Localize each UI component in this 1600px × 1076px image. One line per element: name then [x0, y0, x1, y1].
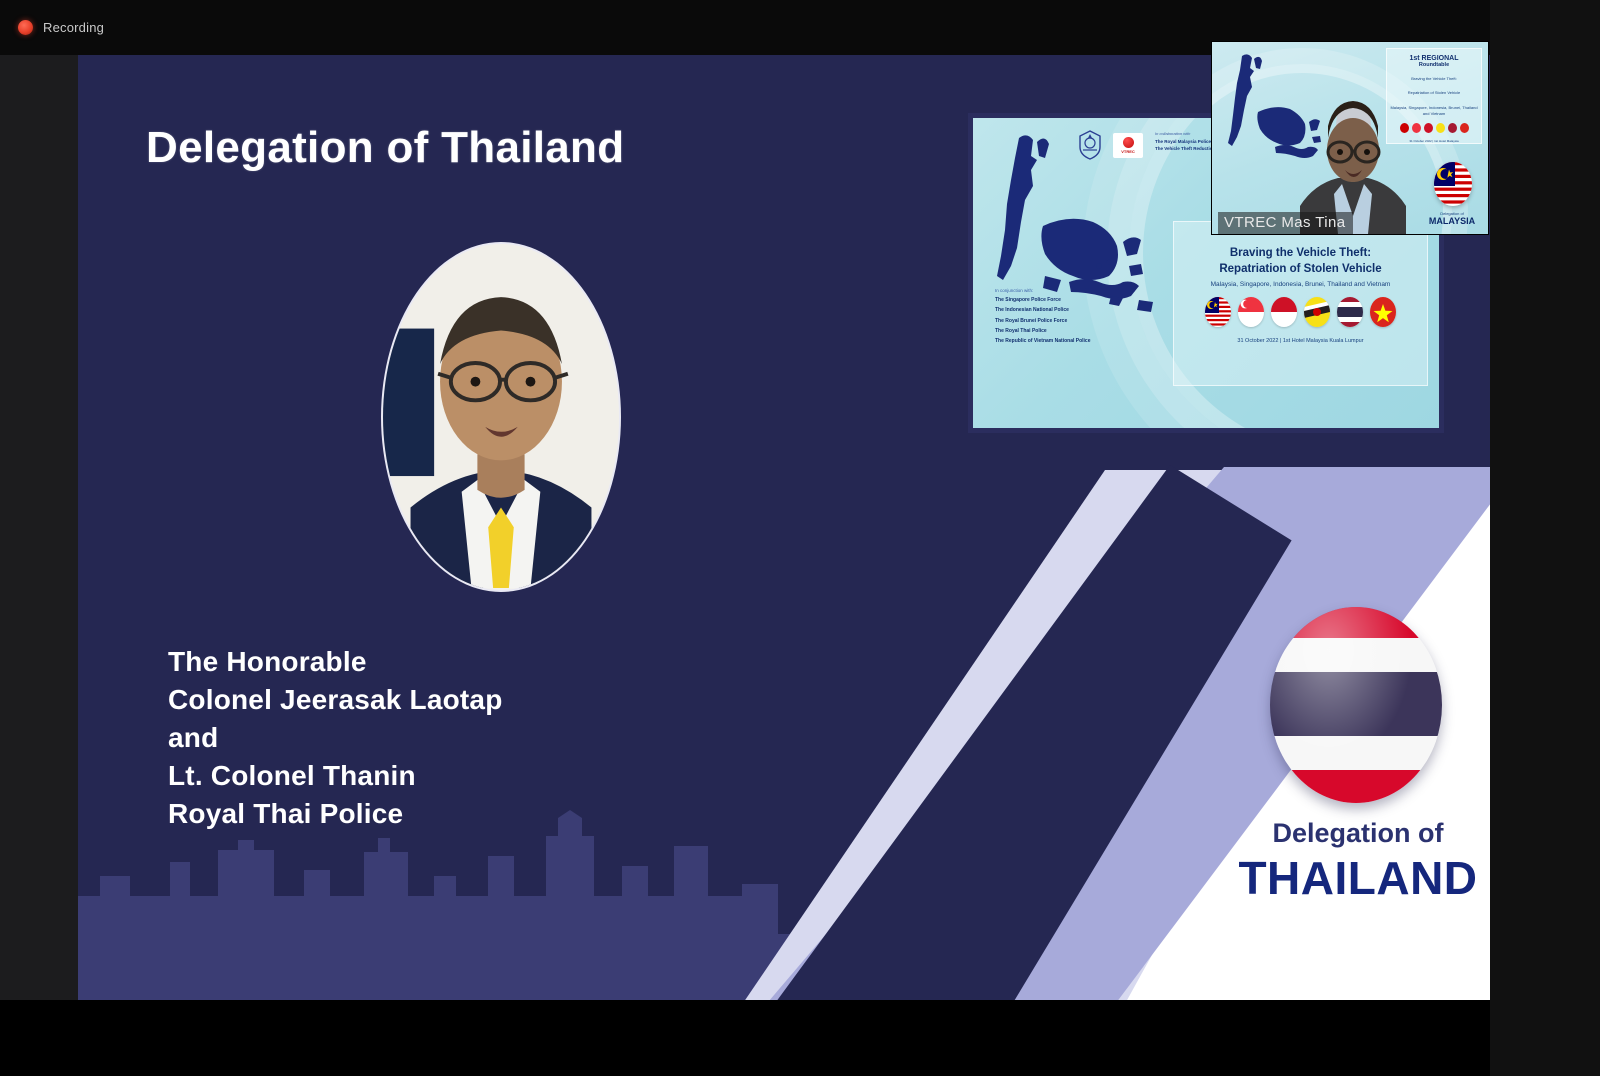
- partner-4: The Royal Thai Police: [995, 326, 1090, 336]
- country-flags-row: [1174, 297, 1427, 327]
- pip-indonesia-flag-icon: [1424, 123, 1433, 133]
- slide-title: Delegation of Thailand: [146, 123, 624, 173]
- participant-video-tile[interactable]: 1st REGIONAL Roundtable Braving the Vehi…: [1212, 42, 1488, 234]
- speaker-line-5: Royal Thai Police: [168, 795, 503, 833]
- malaysia-badge-caption: Delegation of MALAYSIA: [1424, 211, 1480, 226]
- pip-singapore-flag-icon: [1412, 123, 1421, 133]
- thailand-flag-badge: [1270, 607, 1442, 803]
- pip-vietnam-flag-icon: [1460, 123, 1469, 133]
- speaker-line-4: Lt. Colonel Thanin: [168, 757, 503, 795]
- pip-banner-1st: 1st REGIONAL: [1387, 55, 1481, 62]
- record-dot-icon: [18, 20, 33, 35]
- bottom-letterbox: [0, 1000, 1600, 1076]
- police-crest-icon: [1077, 130, 1103, 160]
- partner-3: The Royal Brunei Police Force: [995, 316, 1090, 326]
- partners-block: In conjunction with: The Singapore Polic…: [995, 286, 1090, 346]
- meeting-screen: Recording Delegation of Thailand: [0, 0, 1600, 1076]
- partner-1: The Singapore Police Force: [995, 295, 1090, 305]
- pip-thailand-flag-icon: [1448, 123, 1457, 133]
- vtrec-logo-text: VTREC: [1121, 149, 1135, 154]
- event-subtitle: Malaysia, Singapore, Indonesia, Brunei, …: [1174, 281, 1427, 288]
- speaker-names: The Honorable Colonel Jeerasak Laotap an…: [168, 643, 503, 833]
- speaker-portrait: [381, 242, 621, 592]
- partner-2: The Indonesian National Police: [995, 305, 1090, 315]
- participant-name-label: VTREC Mas Tina: [1218, 212, 1353, 234]
- recording-label: Recording: [43, 20, 104, 35]
- indonesia-flag-icon: [1271, 297, 1297, 327]
- badge-caption-bottom: THAILAND: [1218, 851, 1490, 905]
- vtrec-logo: VTREC: [1113, 133, 1143, 158]
- vietnam-flag-icon: [1370, 297, 1396, 327]
- event-detail-card: Braving the Vehicle Theft: Repatriation …: [1173, 221, 1428, 386]
- brunei-flag-icon: [1304, 297, 1330, 327]
- partner-5: The Republic of Vietnam National Police: [995, 336, 1090, 346]
- vtrec-dot-icon: [1123, 137, 1134, 148]
- malaysia-flag-badge: [1434, 162, 1472, 206]
- speaker-photo: [383, 244, 619, 588]
- partners-header: In conjunction with:: [995, 286, 1090, 295]
- badge-caption-top: Delegation of: [1268, 818, 1448, 849]
- malaysia-caption-bottom: MALAYSIA: [1424, 216, 1480, 226]
- malaysia-flag-icon: [1205, 297, 1231, 327]
- event-date: 31 October 2022 | 1st Hotel Malaysia Kua…: [1174, 338, 1427, 344]
- speaker-line-1: The Honorable: [168, 643, 503, 681]
- event-title: Braving the Vehicle Theft: Repatriation …: [1174, 246, 1427, 277]
- right-letterbox: [1490, 0, 1600, 1076]
- southeast-asia-map-graphic: [981, 130, 1161, 410]
- singapore-flag-icon: [1238, 297, 1264, 327]
- pip-brunei-flag-icon: [1436, 123, 1445, 133]
- speaker-line-2: Colonel Jeerasak Laotap: [168, 681, 503, 719]
- pip-banner-sub1: Braving the Vehicle Theft:: [1387, 76, 1481, 82]
- left-rail: [0, 0, 78, 1000]
- event-title-line-2: Repatriation of Stolen Vehicle: [1174, 262, 1427, 278]
- pip-banner-roundtable: Roundtable: [1387, 62, 1481, 68]
- speaker-line-3: and: [168, 719, 503, 757]
- event-title-line-1: Braving the Vehicle Theft:: [1174, 246, 1427, 262]
- thailand-flag-icon: [1337, 297, 1363, 327]
- pip-banner-sub2: Repatriation of Stolen Vehicle: [1387, 90, 1481, 96]
